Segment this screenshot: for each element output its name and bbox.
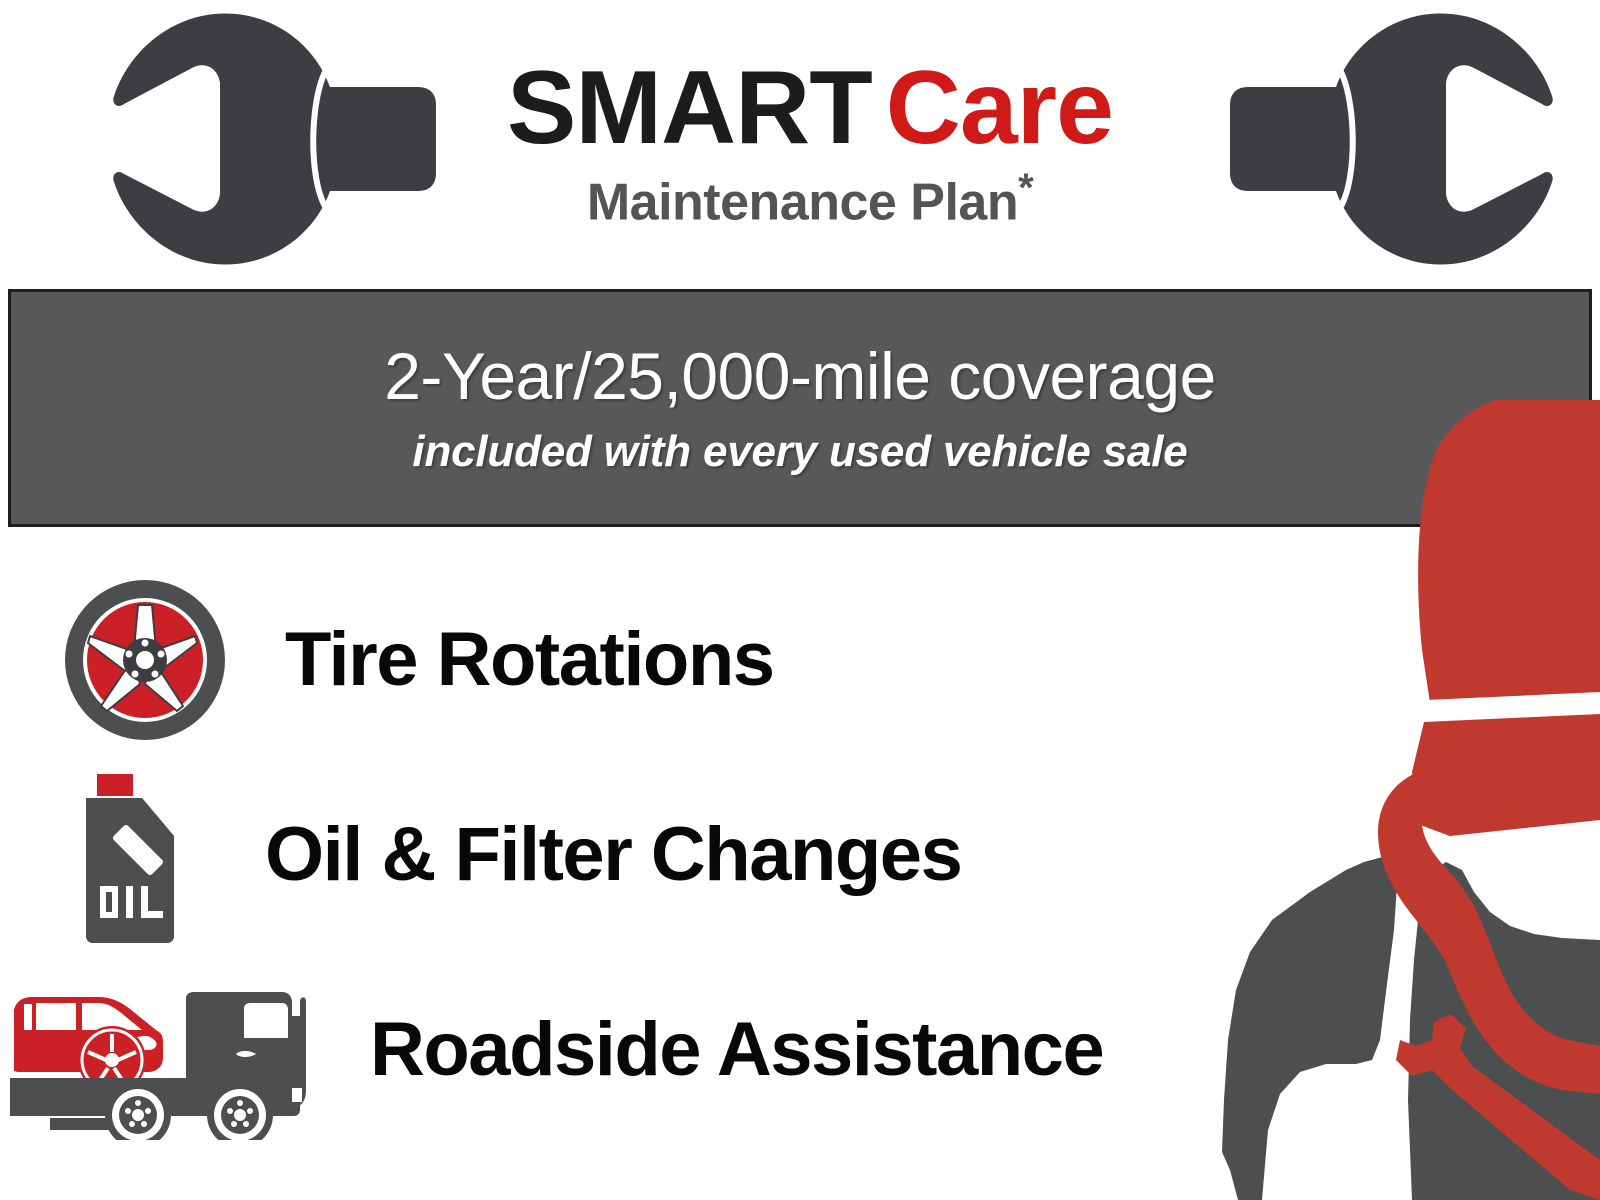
tire-wheel-icon (60, 575, 230, 745)
brand-subtitle: Maintenance Plan* (400, 168, 1220, 231)
coverage-banner: 2-Year/25,000-mile coverage included wit… (8, 289, 1592, 527)
list-item: Tire Rotations (60, 565, 774, 755)
brand-block: SMARTCare Maintenance Plan* (400, 56, 1220, 231)
logo-header: SMARTCare Maintenance Plan* (0, 0, 1600, 282)
coverage-headline: 2-Year/25,000-mile coverage (384, 339, 1216, 413)
list-item: Roadside Assistance (0, 955, 1103, 1145)
oil-bottle-icon (70, 768, 190, 943)
benefit-label: Tire Rotations (285, 620, 774, 700)
disclaimer-asterisk: * (1018, 166, 1033, 210)
smart-care-promo-graphic: SMARTCare Maintenance Plan* 2-Year/25,00… (0, 0, 1600, 1200)
tow-truck-icon (0, 960, 330, 1140)
benefit-label: Oil & Filter Changes (265, 815, 961, 895)
wrench-icon (1228, 8, 1558, 270)
brand-name-primary: SMART (507, 50, 872, 166)
page-title: SMARTCare (400, 56, 1220, 160)
list-item: Oil & Filter Changes (70, 760, 961, 950)
brand-name-secondary: Care (886, 50, 1113, 166)
coverage-subline: included with every used vehicle sale (412, 427, 1187, 477)
wrench-icon (108, 8, 438, 270)
brand-subtitle-text: Maintenance Plan (587, 173, 1018, 231)
benefit-label: Roadside Assistance (370, 1010, 1103, 1090)
